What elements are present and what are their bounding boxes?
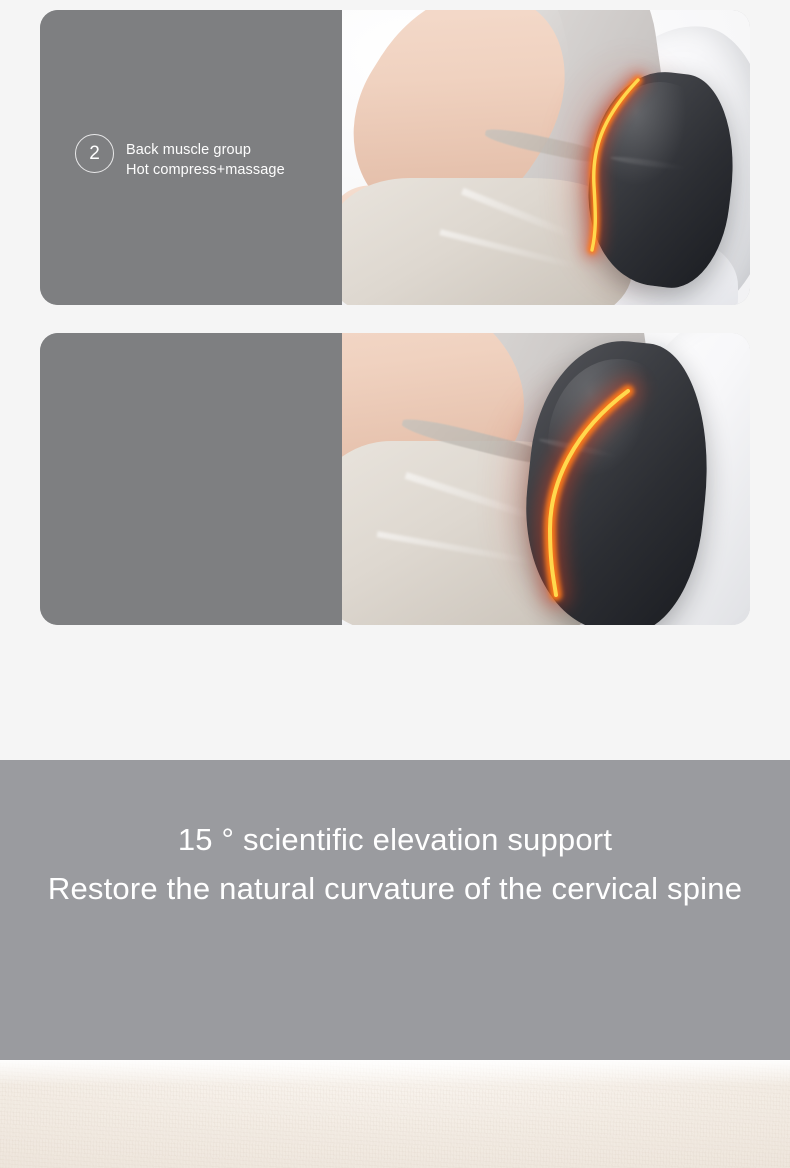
carpet-top-fade [0,1060,790,1086]
panel-2-caption-lines: Back muscle group Hot compress+massage [126,140,285,180]
caption-line: Hot compress+massage [126,160,285,180]
carpet-floor [0,1060,790,1168]
feature-panel-3: 3 large curved surface support Waist con… [40,333,750,625]
banner-headline-line-1: 15 ° scientific elevation support [0,815,790,864]
panel-2-badge: 2 [75,134,114,173]
seated-person-scene-closeup [342,333,750,625]
seated-person-scene-wide [342,10,750,305]
heat-glow-curve-icon [342,333,750,625]
product-feature-page: 2 Back muscle group Hot compress+massage [0,0,790,1168]
feature-panel-2: 2 Back muscle group Hot compress+massage [40,10,750,305]
headline-banner: 15 ° scientific elevation support Restor… [0,760,790,1060]
panel-2-photo [342,10,750,305]
panel-2-caption: 2 Back muscle group Hot compress+massage [75,140,285,180]
panel-3-text-column [40,333,342,625]
banner-text-block: 15 ° scientific elevation support Restor… [0,815,790,913]
heat-glow-curve-icon [342,10,750,305]
panel-3-photo [342,333,750,625]
caption-line: Back muscle group [126,140,285,160]
panel-3-inner [40,333,750,625]
banner-headline-line-2: Restore the natural curvature of the cer… [0,864,790,913]
